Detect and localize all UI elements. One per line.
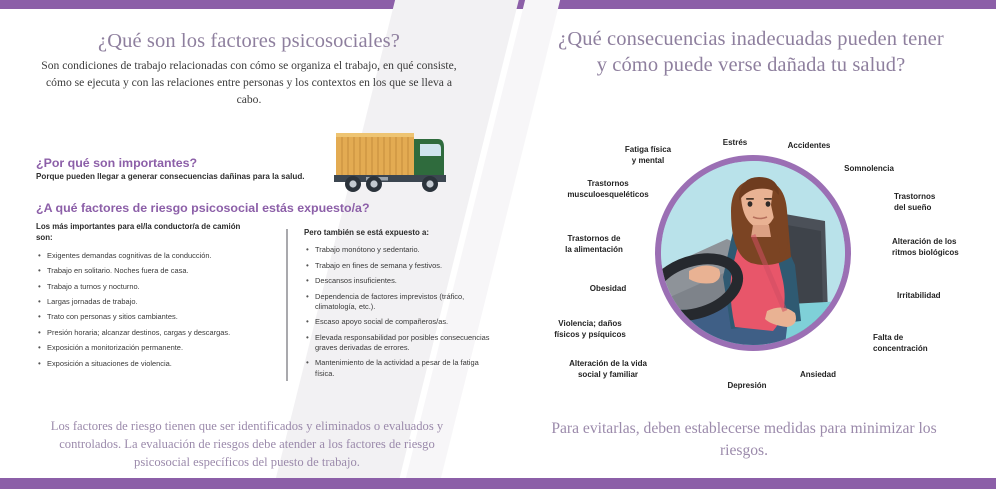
list-item: Trabajo monótono y sedentario. (304, 245, 494, 255)
consequence-label: Estrés (723, 138, 747, 149)
bottom-accent-bar (0, 478, 996, 489)
bottom-margin (0, 489, 996, 496)
left-page-title: ¿Qué son los factores psicosociales? (30, 30, 468, 53)
truck-driver-photo (655, 155, 851, 351)
right-panel: ¿Qué consecuencias inadecuadas pueden te… (498, 9, 996, 478)
list-item: Elevada responsabilidad por posibles con… (304, 333, 494, 354)
list-item: Trabajo en fines de semana y festivos. (304, 261, 494, 271)
list-divider (286, 229, 288, 381)
photo-inner (661, 161, 845, 345)
list-item: Trato con personas y sitios cambiantes. (36, 312, 248, 322)
consequence-label: Irritabilidad (897, 291, 941, 302)
exposure-lists: Los más importantes para el/la conductor… (36, 221, 476, 381)
list-item: Presión horaria; alcanzar destinos, carg… (36, 328, 248, 338)
consequence-label: Trastornosdel sueño (894, 192, 935, 213)
list-item: Exigentes demandas cognitivas de la cond… (36, 251, 248, 261)
exposure-list-primary: Los más importantes para el/la conductor… (36, 221, 248, 374)
section-why-important: ¿Por qué son importantes? Porque pueden … (36, 156, 336, 181)
consequence-label: Violencia; dañosfísicos y psíquicos (554, 319, 626, 340)
list-item: Descansos insuficientes. (304, 276, 494, 286)
left-footer-quote: Los factores de riesgo tienen que ser id… (42, 418, 452, 472)
list-item: Trabajo a turnos y nocturno. (36, 282, 248, 292)
consequence-label: Trastornos dela alimentación (565, 234, 623, 255)
consequence-label: Alteración de la vidasocial y familiar (569, 359, 647, 380)
consequence-label: Trastornosmusculoesqueléticos (567, 179, 648, 200)
list-item: Mantenimiento de la actividad a pesar de… (304, 358, 494, 379)
list-item: Escaso apoyo social de compañeros/as. (304, 317, 494, 327)
right-page-title: ¿Qué consecuencias inadecuadas pueden te… (556, 27, 946, 79)
consequence-label: Falta deconcentración (873, 333, 928, 354)
list-item: Dependencia de factores imprevistos (trá… (304, 292, 494, 313)
section-why-title: ¿Por qué son importantes? (36, 156, 336, 170)
section-exposure: ¿A qué factores de riesgo psicosocial es… (36, 201, 476, 215)
truck-icon (326, 125, 452, 193)
consequence-label: Fatiga físicay mental (625, 145, 671, 166)
list-item: Exposición a monitorización permanente. (36, 343, 248, 353)
list-item: Largas jornadas de trabajo. (36, 297, 248, 307)
list-primary-heading: Los más importantes para el/la conductor… (36, 221, 248, 244)
driver-illustration (661, 161, 845, 345)
left-intro-text: Son condiciones de trabajo relacionadas … (38, 58, 460, 109)
list-item: Trabajo en solitario. Noches fuera de ca… (36, 266, 248, 276)
consequence-label: Alteración de losritmos biológicos (892, 237, 959, 258)
consequence-label: Ansiedad (800, 370, 836, 381)
consequence-label: Obesidad (590, 284, 626, 295)
list-item: Exposición a situaciones de violencia. (36, 359, 248, 369)
consequence-label: Accidentes (788, 141, 831, 152)
list-primary-items: Exigentes demandas cognitivas de la cond… (36, 251, 248, 369)
left-panel: ¿Qué son los factores psicosociales? Son… (0, 9, 498, 478)
section-exposure-title: ¿A qué factores de riesgo psicosocial es… (36, 201, 476, 215)
exposure-list-secondary: Pero también se está expuesto a: Trabajo… (304, 227, 494, 384)
section-why-subtitle: Porque pueden llegar a generar consecuen… (36, 172, 336, 181)
list-secondary-items: Trabajo monótono y sedentario.Trabajo en… (304, 245, 494, 378)
consequence-label: Somnolencia (844, 164, 894, 175)
right-footer-quote: Para evitarlas, deben establecerse medid… (544, 418, 944, 462)
infographic-page: ¿Qué son los factores psicosociales? Son… (0, 0, 996, 496)
consequence-label: Depresión (727, 381, 766, 392)
list-secondary-heading: Pero también se está expuesto a: (304, 227, 494, 238)
